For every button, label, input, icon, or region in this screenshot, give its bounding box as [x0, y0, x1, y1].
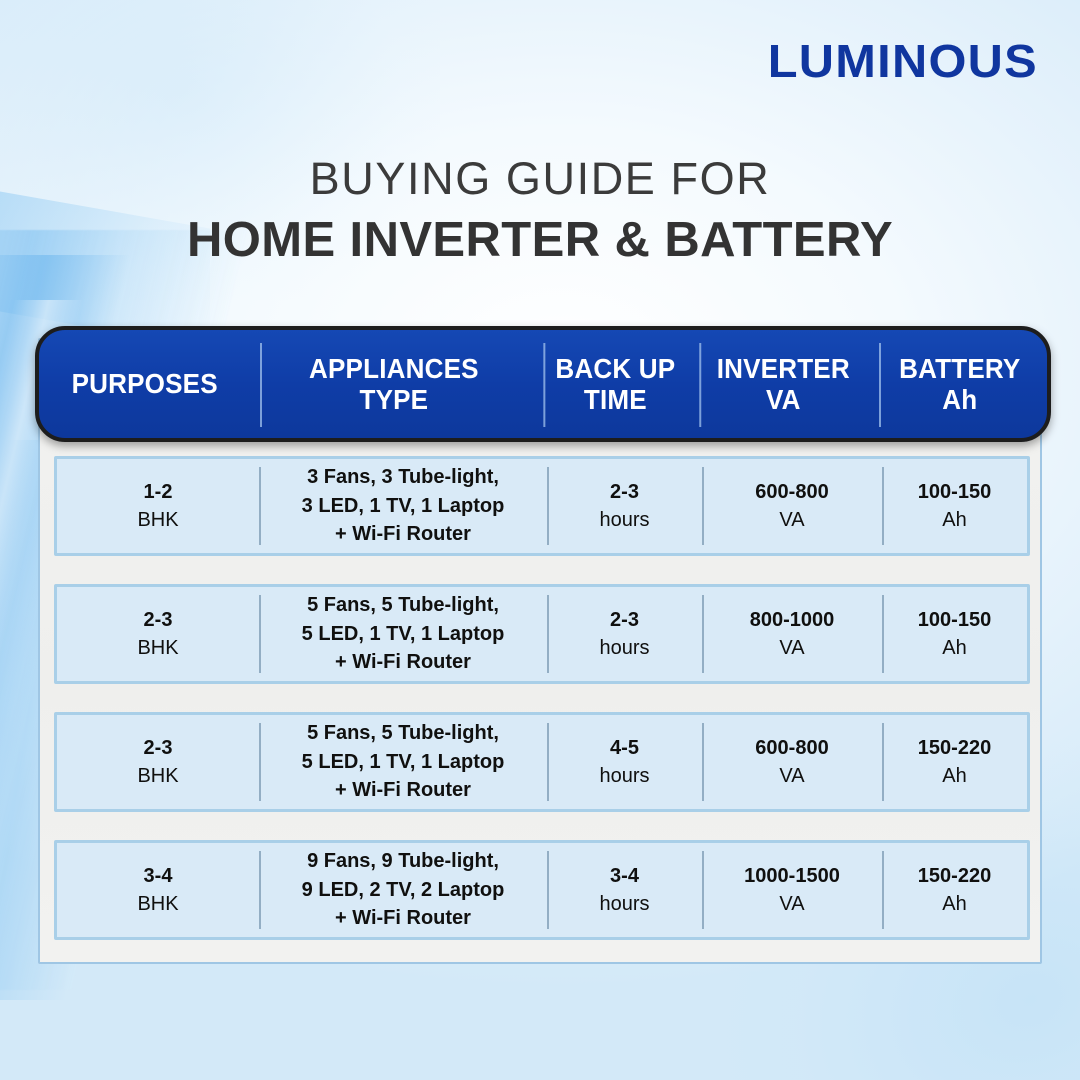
battery-unit: Ah [942, 634, 966, 662]
purpose-value: 2-3 [144, 606, 173, 634]
cell-backup-time: 4-5 hours [547, 715, 702, 809]
inverter-unit: VA [779, 634, 804, 662]
poster-canvas: LUMINOUS BUYING GUIDE FOR HOME INVERTER … [0, 0, 1080, 1080]
appliance-line-2: 5 LED, 1 TV, 1 Laptop [302, 620, 505, 648]
purpose-value: 1-2 [144, 478, 173, 506]
cell-battery-ah: 100-150 Ah [882, 459, 1027, 553]
backup-value: 2-3 [610, 606, 639, 634]
column-header-battery-line1: BATTERY [899, 353, 1020, 384]
purpose-value: 2-3 [144, 734, 173, 762]
page-title: BUYING GUIDE FOR HOME INVERTER & BATTERY [0, 152, 1080, 270]
appliance-line-2: 3 LED, 1 TV, 1 Laptop [302, 492, 505, 520]
column-header-backup-line1: BACK UP [555, 353, 675, 384]
backup-unit: hours [599, 890, 649, 918]
inverter-value: 800-1000 [750, 606, 835, 634]
backup-unit: hours [599, 762, 649, 790]
inverter-value: 1000-1500 [744, 862, 840, 890]
purpose-value: 3-4 [144, 862, 173, 890]
column-header-inverter-line1: INVERTER [717, 353, 850, 384]
cell-backup-time: 2-3 hours [547, 587, 702, 681]
backup-value: 2-3 [610, 478, 639, 506]
appliance-line-3: + Wi-Fi Router [335, 520, 471, 548]
inverter-unit: VA [779, 506, 804, 534]
cell-appliances: 9 Fans, 9 Tube-light, 9 LED, 2 TV, 2 Lap… [259, 843, 547, 937]
cell-battery-ah: 100-150 Ah [882, 587, 1027, 681]
inverter-unit: VA [779, 890, 804, 918]
purpose-unit: BHK [137, 506, 178, 534]
battery-value: 100-150 [918, 606, 991, 634]
column-header-purposes-line1: PURPOSES [72, 368, 218, 399]
column-header-appliances-line2: TYPE [360, 384, 429, 415]
column-header-battery-line2: Ah [943, 384, 978, 415]
purpose-unit: BHK [137, 890, 178, 918]
table-header-row: PURPOSES APPLIANCES TYPE BACK UP TIME IN… [35, 326, 1051, 442]
cell-appliances: 5 Fans, 5 Tube-light, 5 LED, 1 TV, 1 Lap… [259, 587, 547, 681]
appliance-line-1: 9 Fans, 9 Tube-light, [307, 847, 499, 875]
appliance-line-3: + Wi-Fi Router [335, 904, 471, 932]
cell-backup-time: 2-3 hours [547, 459, 702, 553]
purpose-unit: BHK [137, 634, 178, 662]
table-row: 2-3 BHK 5 Fans, 5 Tube-light, 5 LED, 1 T… [54, 584, 1030, 684]
cell-purpose: 2-3 BHK [57, 715, 259, 809]
page-title-line-1: BUYING GUIDE FOR [0, 152, 1080, 205]
battery-unit: Ah [942, 762, 966, 790]
column-header-inverter-line2: VA [766, 384, 801, 415]
cell-battery-ah: 150-220 Ah [882, 843, 1027, 937]
column-header-appliances-line1: APPLIANCES [309, 353, 479, 384]
column-header-purposes: PURPOSES [46, 347, 243, 421]
cell-inverter-va: 1000-1500 VA [702, 843, 882, 937]
appliance-line-3: + Wi-Fi Router [335, 648, 471, 676]
appliance-line-2: 5 LED, 1 TV, 1 Laptop [302, 748, 505, 776]
backup-value: 3-4 [610, 862, 639, 890]
cell-appliances: 3 Fans, 3 Tube-light, 3 LED, 1 TV, 1 Lap… [259, 459, 547, 553]
appliance-line-1: 5 Fans, 5 Tube-light, [307, 719, 499, 747]
table-row: 2-3 BHK 5 Fans, 5 Tube-light, 5 LED, 1 T… [54, 712, 1030, 812]
inverter-value: 600-800 [755, 478, 828, 506]
page-title-line-2: HOME INVERTER & BATTERY [0, 211, 1080, 270]
cell-appliances: 5 Fans, 5 Tube-light, 5 LED, 1 TV, 1 Lap… [259, 715, 547, 809]
backup-unit: hours [599, 634, 649, 662]
battery-value: 100-150 [918, 478, 991, 506]
column-header-appliances-type: APPLIANCES TYPE [260, 347, 528, 421]
table-row: 3-4 BHK 9 Fans, 9 Tube-light, 9 LED, 2 T… [54, 840, 1030, 940]
inverter-unit: VA [779, 762, 804, 790]
cell-inverter-va: 600-800 VA [702, 715, 882, 809]
backup-value: 4-5 [610, 734, 639, 762]
battery-value: 150-220 [918, 862, 991, 890]
cell-purpose: 2-3 BHK [57, 587, 259, 681]
column-header-backup-time: BACK UP TIME [543, 347, 687, 421]
cell-inverter-va: 600-800 VA [702, 459, 882, 553]
inverter-value: 600-800 [755, 734, 828, 762]
cell-purpose: 1-2 BHK [57, 459, 259, 553]
appliance-line-1: 3 Fans, 3 Tube-light, [307, 463, 499, 491]
backup-unit: hours [599, 506, 649, 534]
battery-unit: Ah [942, 506, 966, 534]
appliance-line-3: + Wi-Fi Router [335, 776, 471, 804]
battery-unit: Ah [942, 890, 966, 918]
comparison-table: PURPOSES APPLIANCES TYPE BACK UP TIME IN… [38, 338, 1042, 964]
battery-value: 150-220 [918, 734, 991, 762]
table-body: 1-2 BHK 3 Fans, 3 Tube-light, 3 LED, 1 T… [54, 456, 1030, 940]
cell-backup-time: 3-4 hours [547, 843, 702, 937]
brand-logo: LUMINOUS [768, 34, 1038, 88]
appliance-line-2: 9 LED, 2 TV, 2 Laptop [302, 876, 505, 904]
table-row: 1-2 BHK 3 Fans, 3 Tube-light, 3 LED, 1 T… [54, 456, 1030, 556]
purpose-unit: BHK [137, 762, 178, 790]
column-header-battery-ah: BATTERY Ah [879, 347, 1040, 421]
cell-inverter-va: 800-1000 VA [702, 587, 882, 681]
column-header-inverter-va: INVERTER VA [699, 347, 867, 421]
column-header-backup-line2: TIME [584, 384, 647, 415]
appliance-line-1: 5 Fans, 5 Tube-light, [307, 591, 499, 619]
cell-battery-ah: 150-220 Ah [882, 715, 1027, 809]
cell-purpose: 3-4 BHK [57, 843, 259, 937]
